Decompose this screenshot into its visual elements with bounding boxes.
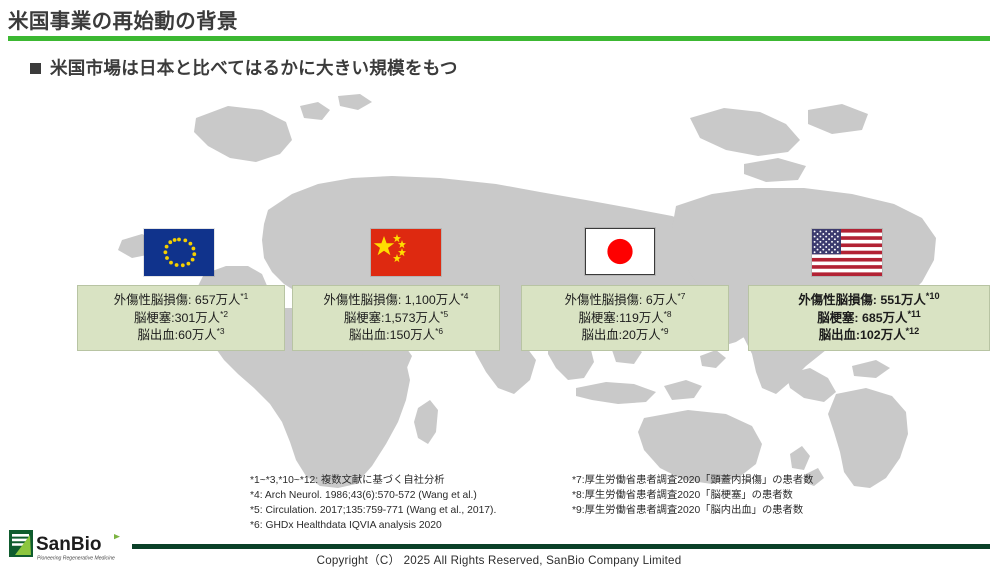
stat-row: 脳梗塞:1,573万人*5 [344,310,448,327]
stat-label: 外傷性脳損傷: [324,293,405,307]
square-bullet-icon [30,63,41,74]
title-divider [8,36,990,41]
page-title: 米国事業の再始動の背景 [8,4,238,34]
stat-value: 657万人 [195,293,240,307]
stat-label: 外傷性脳損傷: [114,293,195,307]
footnote-ref: *5 [440,309,448,319]
footnotes-right: *7:厚生労働省患者調査2020「頭蓋内損傷」の患者数 *8:厚生労働省患者調査… [572,473,813,518]
footnote-ref: *4 [461,291,469,301]
footnote-line: *7:厚生労働省患者調査2020「頭蓋内損傷」の患者数 [572,473,813,488]
european-union-flag-icon [144,229,214,276]
footnote-ref: *1 [240,291,248,301]
stat-label: 脳出血: [819,328,860,342]
stat-row: 脳出血:60万人*3 [137,327,224,344]
footer-divider [132,544,990,549]
stat-label: 脳出血: [581,328,622,342]
stats-box-china: 外傷性脳損傷: 1,100万人*4 脳梗塞:1,573万人*5 脳出血:150万… [292,285,500,351]
footnote-ref: *11 [907,309,920,319]
stats-box-eu: 外傷性脳損傷: 657万人*1 脳梗塞:301万人*2 脳出血:60万人*3 [77,285,285,351]
stat-label: 外傷性脳損傷: [798,293,880,307]
copyright-text: Copyright（C） 2025 All Rights Reserved, S… [0,552,998,568]
stat-label: 脳出血: [349,328,390,342]
china-flag-icon [371,229,441,276]
stat-value: 551万人 [880,293,925,307]
footnote-ref: *6 [435,326,443,336]
footnote-ref: *8 [664,309,672,319]
stats-box-usa: 外傷性脳損傷: 551万人*10 脳梗塞: 685万人*11 脳出血:102万人… [748,285,990,351]
bullet-heading-label: 米国市場は日本と比べてはるかに大きい規模をもつ [50,55,458,80]
footnote-line: *9:厚生労働省患者調査2020「脳内出血」の患者数 [572,503,813,518]
stat-label: 脳梗塞: [817,311,862,325]
stat-label: 脳出血: [137,328,178,342]
japan-flag-icon [585,228,655,275]
stat-row: 外傷性脳損傷: 6万人*7 [565,292,686,309]
stat-label: 脳梗塞: [578,311,619,325]
footnote-line: *1~*3,*10~*12: 複数文献に基づく自社分析 [250,473,496,488]
stat-value: 1,100万人 [405,293,461,307]
stat-value: 301万人 [175,311,220,325]
footnote-ref: *2 [220,309,228,319]
footnote-ref: *7 [678,291,686,301]
slide-canvas: 米国事業の再始動の背景 米国市場は日本と比べてはるかに大きい規模をもつ [0,0,998,573]
stat-value: 6万人 [646,293,678,307]
footnote-ref: *12 [905,326,919,336]
stat-value: 20万人 [622,328,661,342]
footnote-ref: *10 [926,291,940,301]
stat-label: 外傷性脳損傷: [565,293,646,307]
stat-row: 脳梗塞:301万人*2 [134,310,228,327]
footnote-line: *8:厚生労働省患者調査2020「脳梗塞」の患者数 [572,488,813,503]
stat-row: 外傷性脳損傷: 657万人*1 [114,292,249,309]
stat-label: 脳梗塞: [344,311,385,325]
stat-row: 外傷性脳損傷: 1,100万人*4 [324,292,469,309]
stat-row: 脳出血:150万人*6 [349,327,443,344]
footnote-ref: *9 [661,326,669,336]
stat-value: 1,573万人 [384,311,440,325]
united-states-flag-icon [812,229,882,276]
bullet-heading: 米国市場は日本と比べてはるかに大きい規模をもつ [30,55,458,80]
footnote-line: *4: Arch Neurol. 1986;43(6):570-572 (Wan… [250,488,496,503]
stat-value: 685万人 [862,311,907,325]
footnote-line: *5: Circulation. 2017;135:759-771 (Wang … [250,503,496,518]
stat-row: 脳梗塞:119万人*8 [578,310,671,327]
stat-value: 60万人 [178,328,217,342]
stat-value: 102万人 [860,328,905,342]
stat-value: 119万人 [619,311,664,325]
stat-row: 脳出血:102万人*12 [819,327,920,344]
stats-box-japan: 外傷性脳損傷: 6万人*7 脳梗塞:119万人*8 脳出血:20万人*9 [521,285,729,351]
stat-label: 脳梗塞: [134,311,175,325]
footnote-ref: *3 [217,326,225,336]
footnotes-left: *1~*3,*10~*12: 複数文献に基づく自社分析 *4: Arch Neu… [250,473,496,533]
stat-row: 外傷性脳損傷: 551万人*10 [798,292,939,309]
stat-row: 脳梗塞: 685万人*11 [817,310,921,327]
footnote-line: *6: GHDx Healthdata IQVIA analysis 2020 [250,518,496,533]
stat-value: 150万人 [390,328,435,342]
stat-row: 脳出血:20万人*9 [581,327,668,344]
